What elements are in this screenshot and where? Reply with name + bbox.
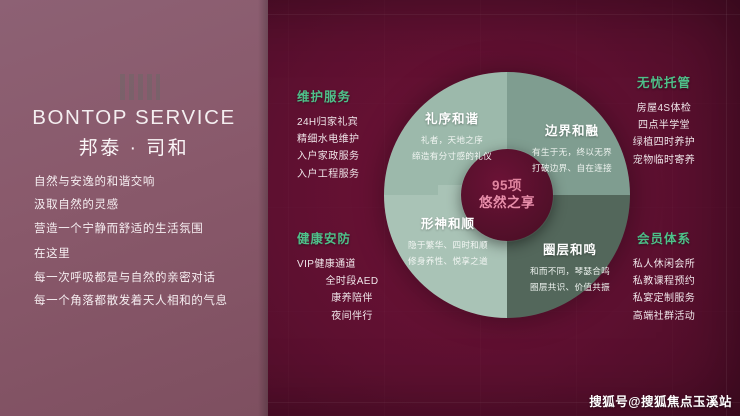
wheel-label-sub: 修身养性、悦享之道 bbox=[392, 254, 504, 270]
wheel-label-title: 形神和顺 bbox=[392, 213, 504, 232]
slide-canvas: BONTOP SERVICE 邦泰 · 司和 自然与安逸的和谐交响 汲取自然的灵… bbox=[0, 0, 740, 416]
hub-count: 95项 bbox=[492, 178, 522, 195]
wheel-label-q2: 边界和融 有生于无，终以无界 打破边界、自在连接 bbox=[518, 120, 626, 177]
tagline-line: 每一次呼吸都是与自然的亲密对话 bbox=[34, 271, 248, 285]
wheel-label-title: 圈层和鸣 bbox=[514, 239, 626, 258]
tagline-line: 在这里 bbox=[34, 247, 248, 261]
wheel-label-sub: 礼者，天地之序 bbox=[398, 133, 506, 149]
page-title-en: BONTOP SERVICE bbox=[0, 106, 268, 130]
wheel-label-title: 边界和融 bbox=[518, 120, 626, 139]
wheel-label-q4: 圈层和鸣 和而不同，琴瑟合鸣 圈层共识、价值共振 bbox=[514, 239, 626, 296]
page-title-cn: 邦泰 · 司和 bbox=[0, 133, 268, 160]
left-panel-content: BONTOP SERVICE 邦泰 · 司和 自然与安逸的和谐交响 汲取自然的灵… bbox=[0, 0, 268, 416]
wheel-label-sub: 打破边界、自在连接 bbox=[518, 161, 626, 177]
wheel-label-sub: 隐于繁华、四时和顺 bbox=[392, 238, 504, 254]
wheel-label-title: 礼序和谐 bbox=[398, 108, 506, 127]
tagline-line: 汲取自然的灵感 bbox=[34, 198, 248, 212]
wheel-label-sub: 有生于无，终以无界 bbox=[518, 145, 626, 161]
tagline-line: 每一个角落都散发着天人相和的气息 bbox=[34, 294, 248, 308]
frame-line-right bbox=[726, 0, 727, 416]
wheel-label-sub: 缔造有分寸感的礼仪 bbox=[398, 149, 506, 165]
hub-label: 悠然之享 bbox=[479, 195, 535, 212]
tagline-line: 营造一个宁静而舒适的生活氛围 bbox=[34, 222, 248, 236]
wheel-label-sub: 和而不同，琴瑟合鸣 bbox=[514, 264, 626, 280]
tagline-block: 自然与安逸的和谐交响 汲取自然的灵感 营造一个宁静而舒适的生活氛围 在这里 每一… bbox=[34, 175, 248, 317]
wheel-label-sub: 圈层共识、价值共振 bbox=[514, 280, 626, 296]
watermark-text: 搜狐号@搜狐焦点玉溪站 bbox=[589, 391, 732, 410]
wheel-label-q3: 形神和顺 隐于繁华、四时和顺 修身养性、悦享之道 bbox=[392, 213, 504, 270]
tagline-line: 自然与安逸的和谐交响 bbox=[34, 175, 248, 189]
wheel-label-q1: 礼序和谐 礼者，天地之序 缔造有分寸感的礼仪 bbox=[398, 108, 506, 165]
vertical-bars-mark-icon bbox=[118, 72, 162, 102]
